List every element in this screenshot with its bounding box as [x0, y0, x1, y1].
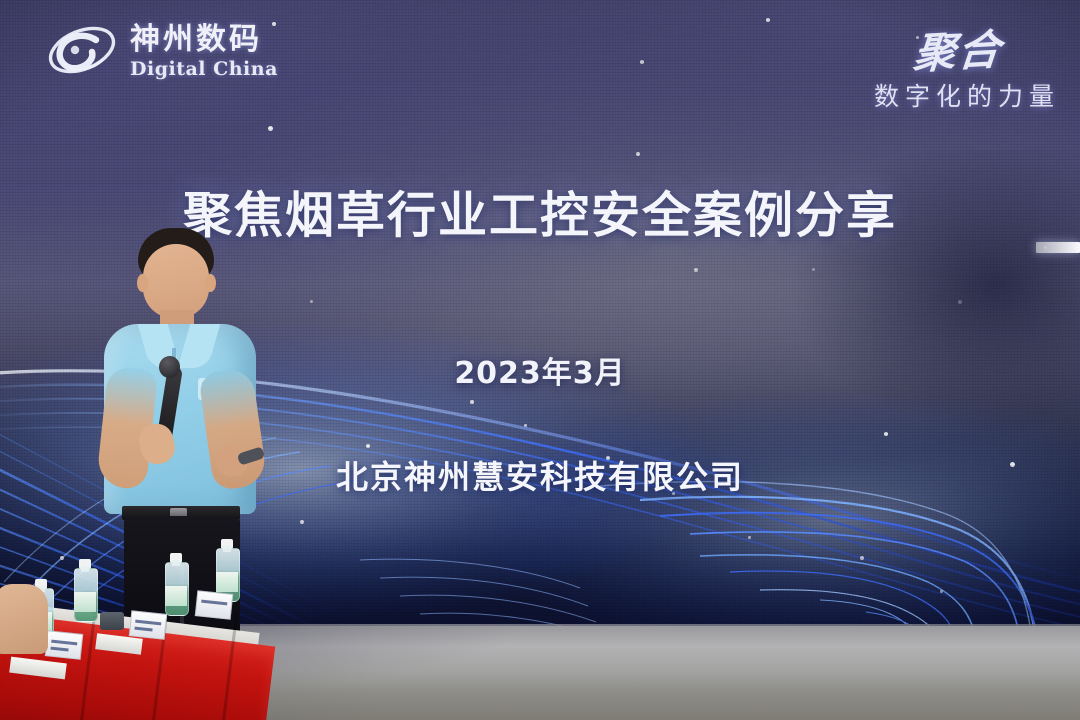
event-tagline: 数字化的力量	[790, 77, 1060, 113]
digital-china-logo: 神州数码 Digital China	[44, 16, 284, 88]
event-brand-lockup: 聚合 数字化的力量	[790, 18, 1060, 113]
name-card-text	[51, 640, 77, 646]
swirl-galaxy-logo-icon	[44, 20, 120, 84]
water-bottle	[74, 568, 96, 622]
seated-attendee	[0, 584, 48, 654]
logo-english-name: Digital China	[130, 60, 278, 79]
bottle-body	[74, 568, 98, 622]
speaker-ear-left	[137, 274, 148, 292]
bottle-neck	[81, 566, 89, 572]
bottle-neck	[223, 546, 231, 552]
name-card-text	[201, 600, 227, 606]
name-card	[195, 590, 234, 620]
bottle-neck	[172, 560, 180, 566]
event-calligraphy: 聚合	[911, 16, 1005, 82]
bottle-label	[216, 572, 238, 592]
bottle-label	[74, 592, 96, 612]
bottle-body	[165, 562, 189, 616]
water-bottle	[165, 562, 187, 616]
name-card-text	[135, 620, 161, 626]
speaker-face	[143, 244, 209, 318]
name-card	[45, 630, 84, 660]
logo-chinese-name: 神州数码	[130, 25, 278, 55]
name-card	[129, 610, 168, 640]
speaker-ear-right	[205, 274, 216, 292]
mug	[100, 612, 124, 630]
screenshot-stage: 神州数码 Digital China 聚合 数字化的力量 聚焦烟草行业工控安全案…	[0, 0, 1080, 720]
name-card-text	[134, 627, 152, 632]
name-card-text	[50, 647, 68, 652]
bottle-label	[165, 586, 187, 606]
